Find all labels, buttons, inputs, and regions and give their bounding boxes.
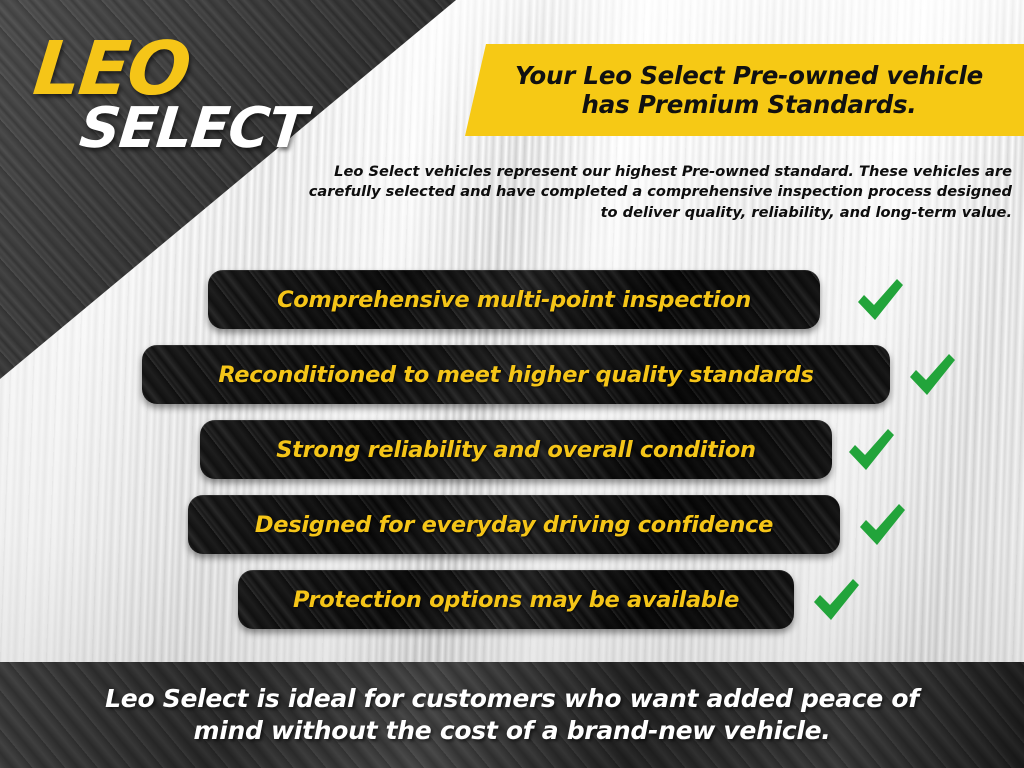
logo-select-text: SELECT	[77, 104, 336, 154]
headline-banner: Your Leo Select Pre-owned vehicle has Pr…	[460, 44, 1024, 136]
intro-paragraph: Leo Select vehicles represent our highes…	[300, 162, 1012, 224]
headline-line-1: Your Leo Select Pre-owned vehicle	[515, 61, 983, 90]
check-icon	[810, 576, 862, 624]
feature-pill-2[interactable]: Reconditioned to meet higher quality sta…	[142, 345, 890, 404]
feature-row: Comprehensive multi-point inspection	[0, 268, 1024, 343]
feature-pill-5[interactable]: Protection options may be available	[238, 570, 794, 629]
logo-leo-text: LEO	[31, 38, 338, 102]
feature-label-4: Designed for everyday driving confidence	[255, 512, 773, 538]
feature-pill-1[interactable]: Comprehensive multi-point inspection	[208, 270, 820, 329]
check-icon	[856, 501, 908, 549]
feature-row: Protection options may be available	[0, 568, 1024, 643]
footer-line-1: Leo Select is ideal for customers who wa…	[105, 684, 919, 713]
feature-label-2: Reconditioned to meet higher quality sta…	[218, 362, 813, 388]
feature-label-3: Strong reliability and overall condition	[276, 437, 756, 463]
check-icon	[845, 426, 897, 474]
feature-label-1: Comprehensive multi-point inspection	[277, 287, 751, 313]
footer-line-2: mind without the cost of a brand-new veh…	[193, 716, 830, 745]
feature-pill-3[interactable]: Strong reliability and overall condition	[200, 420, 832, 479]
check-icon	[906, 351, 958, 399]
feature-row: Reconditioned to meet higher quality sta…	[0, 343, 1024, 418]
brand-logo: LEO SELECT	[34, 38, 334, 154]
headline-text: Your Leo Select Pre-owned vehicle has Pr…	[468, 61, 1016, 120]
feature-row: Strong reliability and overall condition	[0, 418, 1024, 493]
promo-poster: LEO SELECT Your Leo Select Pre-owned veh…	[0, 0, 1024, 768]
footer-text: Leo Select is ideal for customers who wa…	[62, 683, 962, 748]
check-icon	[854, 276, 906, 324]
feature-label-5: Protection options may be available	[293, 587, 739, 613]
headline-line-2: has Premium Standards.	[582, 90, 917, 119]
feature-row: Designed for everyday driving confidence	[0, 493, 1024, 568]
feature-pill-4[interactable]: Designed for everyday driving confidence	[188, 495, 840, 554]
footer-banner: Leo Select is ideal for customers who wa…	[0, 662, 1024, 768]
feature-list: Comprehensive multi-point inspection Rec…	[0, 268, 1024, 643]
